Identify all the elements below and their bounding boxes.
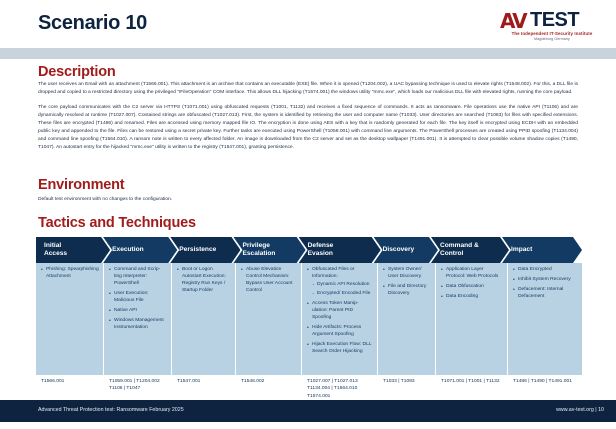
tactics-table-body-row: Phishing: Spearphishing AttachmentComman… — [36, 263, 582, 375]
technique-label: Data Obfuscation — [446, 284, 484, 289]
tactic-header-line1: Discovery — [383, 246, 415, 254]
technique-label: File and Directory Discovery — [388, 284, 426, 296]
page-content: Description The user receives an Email w… — [0, 59, 616, 400]
technique-label: Phishing: Spearphishing Attachment — [46, 267, 99, 279]
technique-ids-persistence: T1547.001 — [172, 378, 236, 400]
tactic-header-line2: Access — [44, 250, 67, 258]
technique-list: Boot or Logon Autostart Execution: Regis… — [177, 267, 231, 295]
sub-technique-item[interactable]: Dynamic API Resolution — [312, 282, 373, 289]
tactic-header-line2: Evasion — [308, 250, 334, 258]
page-title: Scenario 10 — [38, 12, 147, 35]
logo-location: Magdeburg Germany — [500, 37, 604, 41]
tactic-header-line1: Persistence — [179, 246, 216, 254]
technique-label: Hijack Execution Flow: DLL Search Order … — [312, 342, 371, 354]
technique-label: Command and Scrip-ting Interpreter: Powe… — [114, 267, 160, 286]
logo-tagline: The Independent IT-Security Institute — [500, 31, 604, 36]
tactic-header-initial[interactable]: InitialAccess — [36, 237, 110, 263]
av-test-logo: AV TEST The Independent IT-Security Inst… — [500, 9, 604, 43]
technique-label: Application Layer Protocol: Web Protocol… — [446, 267, 498, 279]
logo-test-text: TEST — [530, 9, 579, 32]
footer-bottom-pad — [0, 422, 616, 429]
description-heading: Description — [38, 64, 116, 80]
technique-item[interactable]: Hide Artifacts: Process Argument Spoofin… — [307, 325, 373, 339]
technique-list: Abuse Elevation Control Mechanism: Bypas… — [241, 267, 297, 295]
tactic-header-line2: Control — [440, 250, 479, 258]
tactic-header-privilege[interactable]: PrivilegeEscalation — [233, 237, 305, 263]
technique-label: Data Encoding — [446, 294, 478, 299]
technique-ids-privilege: T1548.002 — [236, 378, 302, 400]
technique-item[interactable]: Phishing: Spearphishing Attachment — [41, 267, 99, 281]
tactics-heading: Tactics and Techniques — [38, 215, 196, 231]
tactics-table-header-row: InitialAccessExecutionPersistencePrivile… — [36, 237, 582, 263]
tactic-header-impact[interactable]: Impact — [502, 237, 582, 263]
technique-list: Obfuscated Files or Information:Dynamic … — [307, 267, 373, 356]
technique-label: Native API — [114, 308, 137, 313]
page-footer: Advanced Threat Protection test: Ransomw… — [0, 400, 616, 422]
tactic-cell-privilege: Abuse Elevation Control Mechanism: Bypas… — [236, 263, 302, 375]
technique-label: Inhibit System Recovery — [518, 277, 571, 282]
tactics-table: InitialAccessExecutionPersistencePrivile… — [36, 237, 582, 400]
technique-label: User Execution: Malicious File — [114, 291, 149, 303]
technique-ids-initial: T1566.001 — [36, 378, 104, 400]
technique-ids-discovery: T1033 | T1083 — [378, 378, 436, 400]
tactic-cell-command: Application Layer Protocol: Web Protocol… — [436, 263, 508, 375]
technique-item[interactable]: Abuse Elevation Control Mechanism: Bypas… — [241, 267, 297, 295]
technique-label: Windows Management Instrumentation — [114, 318, 164, 330]
technique-item[interactable]: Application Layer Protocol: Web Protocol… — [441, 267, 503, 281]
technique-label: Obfuscated Files or Information: — [312, 267, 354, 279]
tactic-header-defense[interactable]: DefenseEvasion — [299, 237, 381, 263]
technique-label: Hide Artifacts: Process Argument Spoofin… — [312, 325, 361, 337]
tactic-header-line1: Execution — [112, 246, 144, 254]
description-paragraph-1: The user receives an Email with an attac… — [38, 81, 578, 97]
footer-url-page: www.av-test.org | 10 — [556, 407, 604, 413]
technique-item[interactable]: Access Token Manip-ulation: Parent PID S… — [307, 301, 373, 322]
technique-item[interactable]: User Execution: Malicious File — [109, 291, 167, 305]
technique-list: Command and Scrip-ting Interpreter: Powe… — [109, 267, 167, 332]
tactic-header-discovery[interactable]: Discovery — [374, 237, 438, 263]
technique-list: Data EncryptedInhibit System RecoveryDef… — [513, 267, 578, 301]
tactic-cell-persistence: Boot or Logon Autostart Execution: Regis… — [172, 263, 236, 375]
tactic-header-command[interactable]: Command &Control — [431, 237, 509, 263]
technique-ids-command: T1071.001 | T1001 | T1132 — [436, 378, 508, 400]
technique-label: Defacement: Internal Defacement — [518, 287, 563, 299]
environment-heading: Environment — [38, 177, 124, 193]
tactics-table-id-row: T1566.001T1059.001 | T1204.002 T1106 | T… — [36, 378, 582, 400]
logo-av-text: AV — [500, 9, 526, 33]
technique-item[interactable]: Hijack Execution Flow: DLL Search Order … — [307, 342, 373, 356]
technique-list: System Owner/ User DiscoveryFile and Dir… — [383, 267, 431, 298]
environment-paragraph: Default test environment with no changes… — [38, 196, 578, 204]
tactic-header-execution[interactable]: Execution — [103, 237, 177, 263]
technique-item[interactable]: Obfuscated Files or Information:Dynamic … — [307, 267, 373, 298]
technique-label: Access Token Manip-ulation: Parent PID S… — [312, 301, 358, 320]
technique-item[interactable]: Command and Scrip-ting Interpreter: Powe… — [109, 267, 167, 288]
tactic-cell-execution: Command and Scrip-ting Interpreter: Powe… — [104, 263, 172, 375]
technique-list: Phishing: Spearphishing Attachment — [41, 267, 99, 281]
page-header: Scenario 10 AV TEST The Independent IT-S… — [0, 0, 616, 48]
technique-item[interactable]: Data Obfuscation — [441, 284, 503, 291]
technique-item[interactable]: Windows Management Instrumentation — [109, 318, 167, 332]
technique-item[interactable]: Defacement: Internal Defacement — [513, 287, 578, 301]
tactic-header-line1: Defense — [308, 242, 334, 250]
technique-label: System Owner/ User Discovery — [388, 267, 421, 279]
sub-technique-item[interactable]: Encrypted/ Encoded File — [312, 291, 373, 298]
tactic-cell-discovery: System Owner/ User DiscoveryFile and Dir… — [378, 263, 436, 375]
tactic-header-line1: Command & — [440, 242, 479, 250]
slide-page: Scenario 10 AV TEST The Independent IT-S… — [0, 0, 616, 429]
logo-wordmark: AV TEST — [500, 9, 604, 31]
sub-technique-list: Dynamic API ResolutionEncrypted/ Encoded… — [312, 282, 373, 298]
technique-label: Boot or Logon Autostart Execution: Regis… — [182, 267, 226, 293]
tactic-header-persistence[interactable]: Persistence — [170, 237, 240, 263]
footer-test-name: Advanced Threat Protection test: Ransomw… — [38, 407, 184, 413]
technique-item[interactable]: System Owner/ User Discovery — [383, 267, 431, 281]
tactic-header-line1: Initial — [44, 242, 67, 250]
technique-ids-impact: T1486 | T1490 | T1491.001 — [508, 378, 582, 400]
technique-item[interactable]: Inhibit System Recovery — [513, 277, 578, 284]
technique-label: Data Encrypted — [518, 267, 552, 272]
technique-ids-defense: T1027.007 | T1027.013 T1134.004 | T1564.… — [302, 378, 378, 400]
tactic-cell-defense: Obfuscated Files or Information:Dynamic … — [302, 263, 378, 375]
tactic-cell-impact: Data EncryptedInhibit System RecoveryDef… — [508, 263, 582, 375]
tactic-header-line1: Impact — [511, 246, 532, 254]
tactic-cell-initial: Phishing: Spearphishing Attachment — [36, 263, 104, 375]
technique-label: Abuse Elevation Control Mechanism: Bypas… — [246, 267, 292, 293]
header-divider-band — [0, 48, 616, 59]
technique-item[interactable]: Data Encrypted — [513, 267, 578, 274]
technique-list: Application Layer Protocol: Web Protocol… — [441, 267, 503, 301]
description-paragraph-2: The core payload communicates with the C… — [38, 104, 578, 152]
tactic-header-line1: Privilege — [242, 242, 275, 250]
technique-item[interactable]: Data Encoding — [441, 294, 503, 301]
technique-item[interactable]: Native API — [109, 308, 167, 315]
technique-ids-execution: T1059.001 | T1204.002 T1106 | T1047 — [104, 378, 172, 400]
technique-item[interactable]: Boot or Logon Autostart Execution: Regis… — [177, 267, 231, 295]
technique-item[interactable]: File and Directory Discovery — [383, 284, 431, 298]
tactic-header-line2: Escalation — [242, 250, 275, 258]
